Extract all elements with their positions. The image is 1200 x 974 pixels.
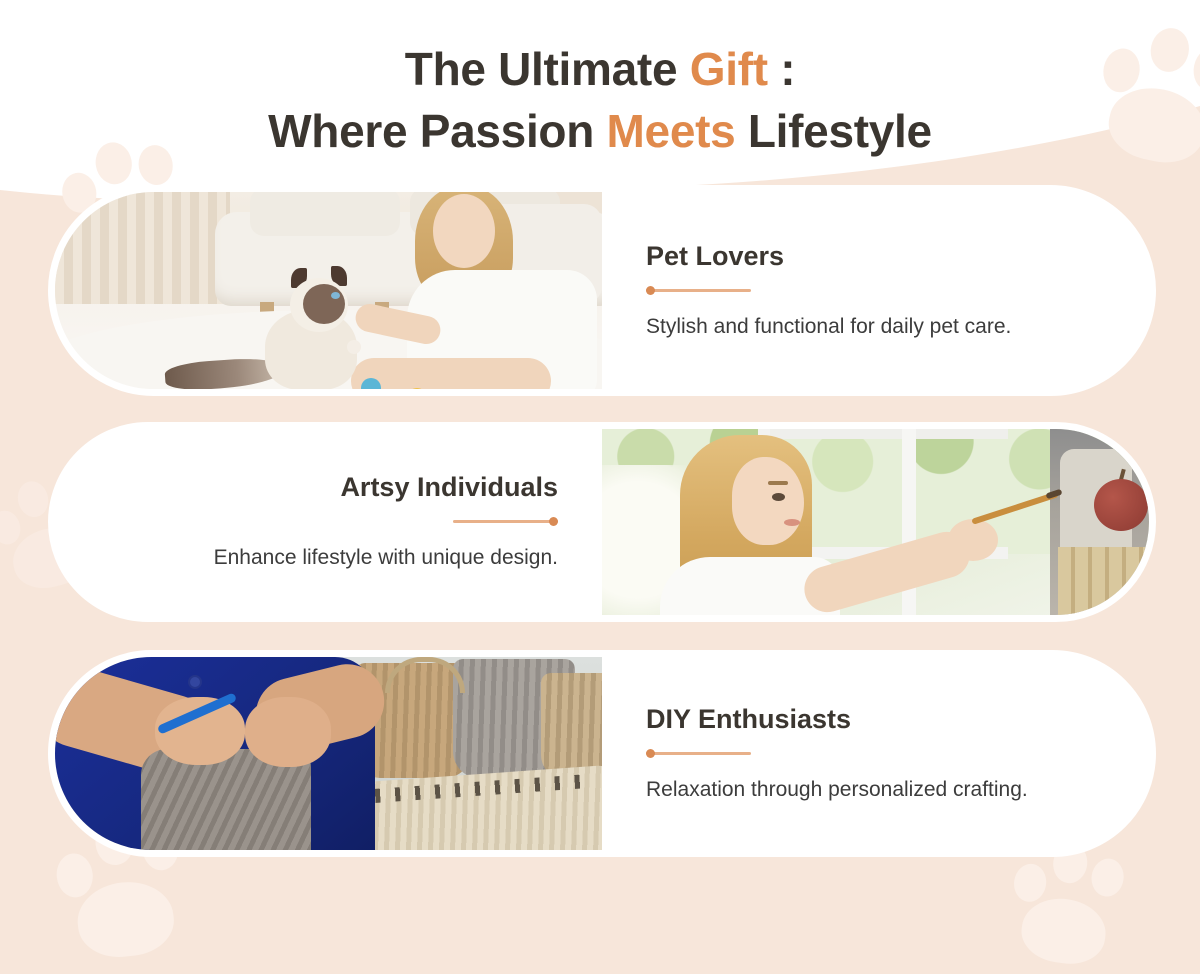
feature-card-artsy-individuals[interactable]: Artsy Individuals Enhance lifestyle with…: [48, 422, 1156, 622]
card-image-diy-enthusiasts: [55, 657, 602, 850]
title-line-1-part1: The Ultimate: [405, 43, 690, 95]
card-image-pet-lovers: [55, 192, 602, 389]
title-accent-meets: Meets: [607, 105, 736, 157]
card-title: DIY Enthusiasts: [646, 704, 1105, 735]
feature-card-pet-lovers[interactable]: Pet Lovers Stylish and functional for da…: [48, 185, 1156, 396]
card-text-artsy-individuals: Artsy Individuals Enhance lifestyle with…: [55, 429, 602, 615]
title-line-1-part2: :: [768, 43, 796, 95]
card-divider: [646, 286, 751, 295]
card-divider: [646, 749, 751, 758]
card-description: Enhance lifestyle with unique design.: [214, 544, 558, 572]
card-description: Relaxation through personalized crafting…: [646, 776, 1105, 804]
title-line-2-part2: Lifestyle: [735, 105, 931, 157]
feature-card-diy-enthusiasts[interactable]: DIY Enthusiasts Relaxation through perso…: [48, 650, 1156, 857]
title-accent-gift: Gift: [690, 43, 768, 95]
card-title: Pet Lovers: [646, 241, 1105, 272]
card-description: Stylish and functional for daily pet car…: [646, 313, 1105, 341]
title-line-2-part1: Where Passion: [268, 105, 606, 157]
title-line-2: Where Passion Meets Lifestyle: [0, 100, 1200, 162]
card-title: Artsy Individuals: [340, 472, 558, 503]
card-text-pet-lovers: Pet Lovers Stylish and functional for da…: [602, 192, 1149, 389]
card-image-artsy-individuals: [602, 429, 1149, 615]
title-line-1: The Ultimate Gift :: [0, 38, 1200, 100]
page-title: The Ultimate Gift : Where Passion Meets …: [0, 38, 1200, 162]
card-text-diy-enthusiasts: DIY Enthusiasts Relaxation through perso…: [602, 657, 1149, 850]
card-divider: [453, 517, 558, 526]
